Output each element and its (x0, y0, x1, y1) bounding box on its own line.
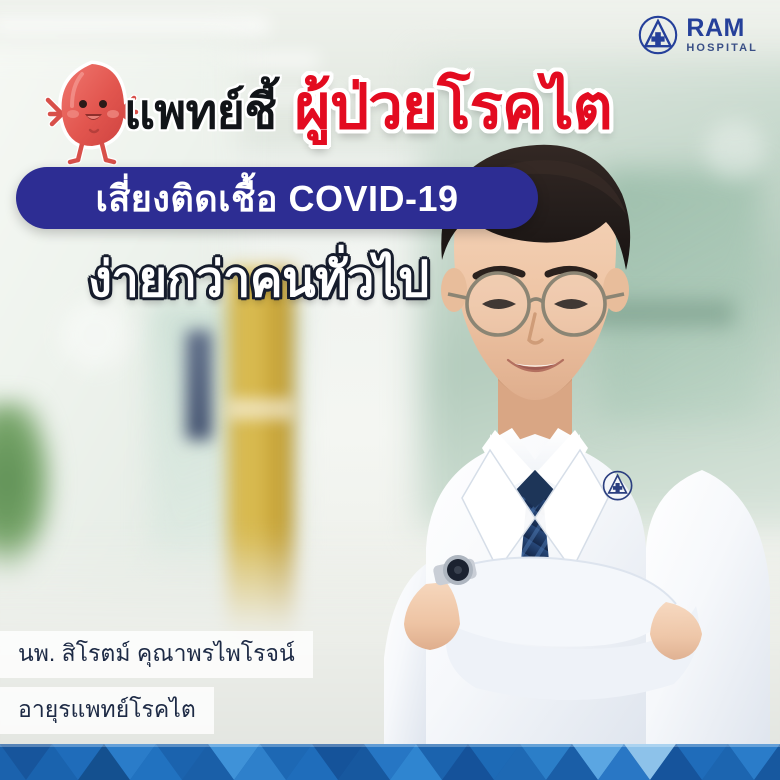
brand-subtitle: HOSPITAL (686, 43, 758, 54)
background-wall-panel (186, 330, 212, 440)
doctor-caption: นพ. สิโรตม์ คุณาพรไพโรจน์ อายุรแพทย์โรคไ… (0, 631, 313, 734)
ceiling-light-strip (0, 18, 270, 34)
brand-logo: RAM HOSPITAL (637, 14, 758, 56)
doctor-role: อายุรแพทย์โรคไต (0, 687, 214, 734)
doctor-name: นพ. สิโรตม์ คุณาพรไพโรจน์ (0, 631, 313, 678)
covid-banner: เสี่ยงติดเชื้อ COVID-19 (16, 167, 538, 229)
brand-name: RAM (686, 16, 758, 41)
covid-banner-text: เสี่ยงติดเชื้อ COVID-19 (95, 170, 458, 227)
headline: แพทย์ชี้ ผู้ป่วยโรคไต (124, 58, 612, 156)
background-pillar-band (228, 398, 294, 420)
subheadline: ง่ายกว่าคนทั่วไป (88, 240, 429, 318)
ram-hospital-emblem-icon (637, 14, 679, 56)
footer-mosaic-strip (0, 744, 780, 780)
headline-emphasis: ผู้ป่วยโรคไต (294, 58, 611, 156)
brand-logo-text: RAM HOSPITAL (686, 16, 758, 54)
poster-canvas: RAM HOSPITAL (0, 0, 780, 780)
headline-lead: แพทย์ชี้ (124, 74, 276, 150)
